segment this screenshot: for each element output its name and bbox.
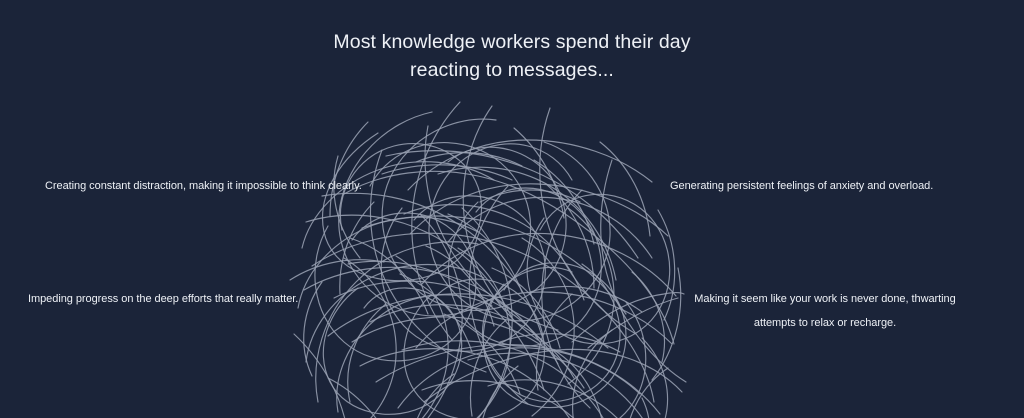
slide-canvas: Most knowledge workers spend their day r… bbox=[0, 0, 1024, 418]
tangled-scribble-graphic bbox=[282, 98, 686, 410]
callout-bottom-left: Impeding progress on the deep efforts th… bbox=[28, 287, 298, 311]
callout-top-right: Generating persistent feelings of anxiet… bbox=[670, 174, 933, 198]
page-title: Most knowledge workers spend their day r… bbox=[302, 28, 722, 84]
callout-bottom-right: Making it seem like your work is never d… bbox=[686, 287, 964, 335]
scribble-strokes bbox=[290, 102, 686, 418]
scribble-svg bbox=[282, 98, 686, 410]
callout-top-left: Creating constant distraction, making it… bbox=[45, 174, 362, 198]
